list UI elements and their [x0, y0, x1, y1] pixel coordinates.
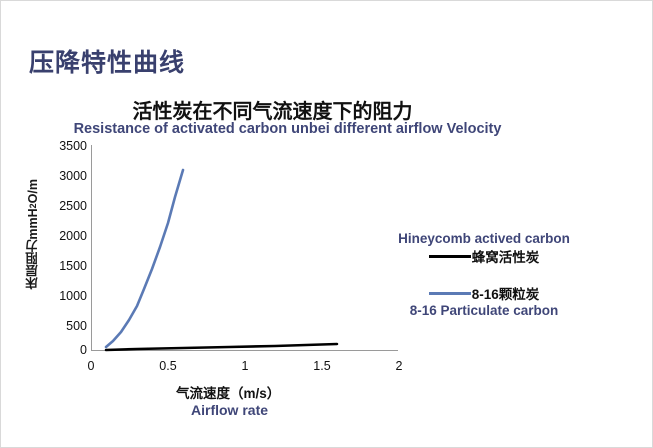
- x-axis-title-chinese: 气流速度（m/s）: [176, 382, 280, 402]
- series-line-particulate-carbon: [106, 170, 183, 347]
- legend-item-honeycomb: Hineycomb actived carbon 蜂窝活性炭: [369, 231, 599, 266]
- slide-canvas: 压降特性曲线 活性炭在不同气流速度下的阻力 Resistance of acti…: [0, 0, 653, 448]
- x-tick-2: 2: [379, 359, 419, 373]
- series-line-honeycomb-carbon: [106, 344, 337, 350]
- x-tick-1: 1: [225, 359, 265, 373]
- legend-spacer: [369, 266, 599, 283]
- legend-swatch-blue-line: [429, 292, 471, 295]
- legend-row-honeycomb: 蜂窝活性炭: [369, 246, 599, 266]
- x-axis-title-english: Airflow rate: [191, 402, 268, 418]
- chart-legend: Hineycomb actived carbon 蜂窝活性炭 8-16颗粒炭 8…: [369, 231, 599, 318]
- legend-label-particulate-cn: 8-16颗粒炭: [472, 283, 540, 303]
- legend-row-particulate: 8-16颗粒炭: [369, 283, 599, 303]
- x-tick-0: 0: [71, 359, 111, 373]
- legend-label-particulate-en: 8-16 Particulate carbon: [369, 303, 599, 318]
- x-tick-1-5: 1.5: [302, 359, 342, 373]
- legend-swatch-black-line: [429, 255, 471, 258]
- legend-label-honeycomb-en: Hineycomb actived carbon: [369, 231, 599, 246]
- legend-item-particulate: 8-16颗粒炭 8-16 Particulate carbon: [369, 283, 599, 318]
- legend-label-honeycomb-cn: 蜂窝活性炭: [472, 246, 540, 266]
- chart-series-layer: [1, 1, 653, 448]
- chart-plot-area: 床层阻力mmH2O/m 3500 3000 2500 2000 1500 100…: [1, 1, 653, 448]
- x-tick-0-5: 0.5: [148, 359, 188, 373]
